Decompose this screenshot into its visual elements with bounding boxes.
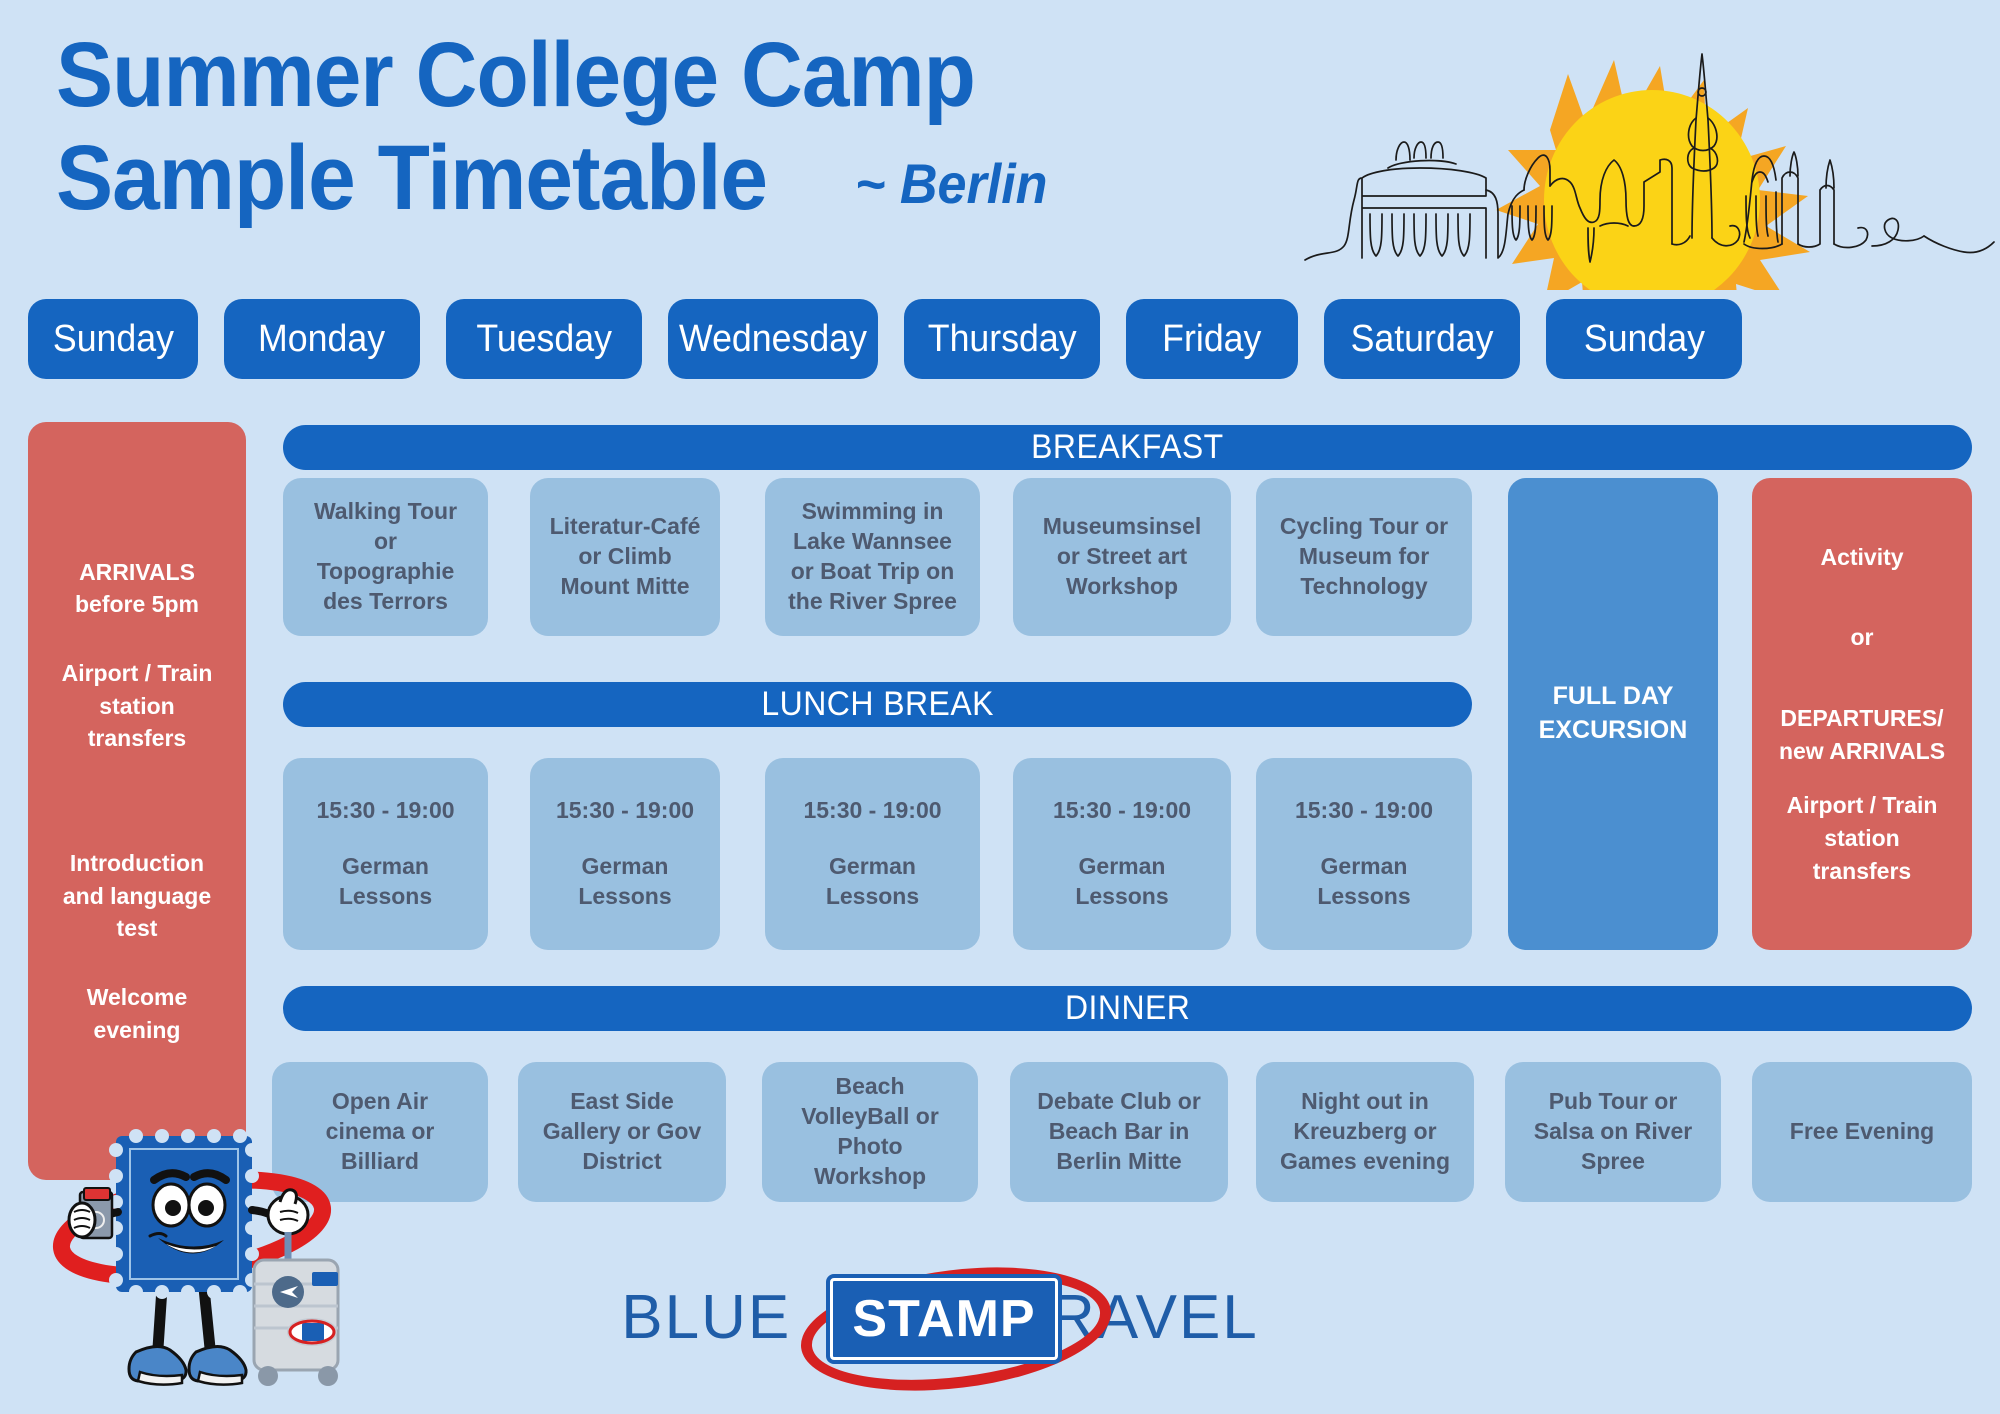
day-header-thursday[interactable]: Thursday	[904, 299, 1100, 379]
activity-label: Night out in Kreuzberg or Games evening	[1280, 1087, 1450, 1177]
breakfast-bar: BREAKFAST	[283, 425, 1972, 470]
activity-card-tuesday-afternoon[interactable]: 15:30 - 19:00 German Lessons	[530, 758, 720, 950]
day-header-saturday[interactable]: Saturday	[1324, 299, 1520, 379]
activity-card-friday-evening[interactable]: Night out in Kreuzberg or Games evening	[1256, 1062, 1474, 1202]
activity-card-wednesday-evening[interactable]: Beach VolleyBall or Photo Workshop	[762, 1062, 978, 1202]
day-label: Friday	[1162, 318, 1261, 361]
day-label: Tuesday	[476, 318, 612, 361]
lesson-time: 15:30 - 19:00	[1053, 796, 1191, 826]
activity-label: Debate Club or Beach Bar in Berlin Mitte	[1037, 1087, 1201, 1177]
departures-column: Activity or DEPARTURES/ new ARRIVALS Air…	[1752, 478, 1972, 950]
departures-block-4: Airport / Train station transfers	[1787, 789, 1938, 887]
activity-label: East Side Gallery or Gov District	[543, 1087, 702, 1177]
timetable-poster: Summer College Camp Sample Timetable ~ B…	[0, 0, 2000, 1414]
activity-label: Literatur-Café or Climb Mount Mitte	[550, 512, 701, 602]
dinner-label: DINNER	[1065, 989, 1190, 1028]
stamp-mascot-icon	[40, 1120, 340, 1410]
page-title: Summer College Camp Sample Timetable ~ B…	[56, 24, 1356, 230]
day-label: Saturday	[1351, 318, 1494, 361]
activity-card-monday-morning[interactable]: Walking Tour or Topographie des Terrors	[283, 478, 488, 636]
activity-card-thursday-afternoon[interactable]: 15:30 - 19:00 German Lessons	[1013, 758, 1231, 950]
day-header-sunday-departure[interactable]: Sunday	[1546, 299, 1742, 379]
activity-label: Beach VolleyBall or Photo Workshop	[801, 1072, 939, 1192]
departures-block-1: Activity	[1820, 541, 1903, 574]
day-header-monday[interactable]: Monday	[224, 299, 420, 379]
activity-label: German Lessons	[578, 852, 671, 912]
activity-label: German Lessons	[339, 852, 432, 912]
lesson-time: 15:30 - 19:00	[803, 796, 941, 826]
logo-word-blue: BLUE	[621, 1282, 791, 1353]
lesson-time: 15:30 - 19:00	[316, 796, 454, 826]
activity-card-wednesday-afternoon[interactable]: 15:30 - 19:00 German Lessons	[765, 758, 980, 950]
activity-card-saturday-evening[interactable]: Pub Tour or Salsa on River Spree	[1505, 1062, 1721, 1202]
activity-label: Pub Tour or Salsa on River Spree	[1534, 1087, 1693, 1177]
activity-card-friday-morning[interactable]: Cycling Tour or Museum for Technology	[1256, 478, 1472, 636]
activity-card-tuesday-morning[interactable]: Literatur-Café or Climb Mount Mitte	[530, 478, 720, 636]
activity-card-thursday-evening[interactable]: Debate Club or Beach Bar in Berlin Mitte	[1010, 1062, 1228, 1202]
day-header-wednesday[interactable]: Wednesday	[668, 299, 878, 379]
title-subtitle-destination: ~ Berlin	[855, 151, 1047, 230]
activity-label: Swimming in Lake Wannsee or Boat Trip on…	[788, 497, 957, 617]
activity-card-friday-afternoon[interactable]: 15:30 - 19:00 German Lessons	[1256, 758, 1472, 950]
activity-label: Museumsinsel or Street art Workshop	[1043, 512, 1202, 602]
activity-card-thursday-morning[interactable]: Museumsinsel or Street art Workshop	[1013, 478, 1231, 636]
day-header-tuesday[interactable]: Tuesday	[446, 299, 642, 379]
activity-card-wednesday-morning[interactable]: Swimming in Lake Wannsee or Boat Trip on…	[765, 478, 980, 636]
day-label: Wednesday	[679, 318, 867, 361]
day-label: Thursday	[928, 318, 1077, 361]
logo-stamp-badge: STAMP	[830, 1278, 1058, 1360]
arrivals-block-3: Introduction and language test	[63, 847, 211, 945]
activity-label: German Lessons	[826, 852, 919, 912]
lesson-time: 15:30 - 19:00	[556, 796, 694, 826]
activity-label: German Lessons	[1075, 852, 1168, 912]
breakfast-label: BREAKFAST	[1031, 428, 1223, 467]
day-label: Sunday	[1583, 318, 1704, 361]
day-header-row: Sunday Monday Tuesday Wednesday Thursday…	[28, 299, 1972, 379]
activity-card-sunday-evening[interactable]: Free Evening	[1752, 1062, 1972, 1202]
activity-label: German Lessons	[1317, 852, 1410, 912]
arrivals-block-2: Airport / Train station transfers	[62, 657, 213, 755]
title-line-1: Summer College Camp	[56, 24, 1265, 127]
full-day-excursion-card[interactable]: FULL DAY EXCURSION	[1508, 478, 1718, 950]
activity-card-tuesday-evening[interactable]: East Side Gallery or Gov District	[518, 1062, 726, 1202]
lunch-break-bar: LUNCH BREAK	[283, 682, 1472, 727]
sun-icon	[1496, 60, 1810, 290]
title-line-2: Sample Timetable	[56, 127, 767, 230]
activity-label: Free Evening	[1790, 1117, 1934, 1147]
brand-logo: BLUE STAMP TRAVEL STAMP	[660, 1272, 1220, 1362]
lesson-time: 15:30 - 19:00	[1295, 796, 1433, 826]
arrivals-block-1: ARRIVALS before 5pm	[75, 556, 199, 621]
activity-card-monday-afternoon[interactable]: 15:30 - 19:00 German Lessons	[283, 758, 488, 950]
berlin-skyline-icon	[1300, 0, 2000, 290]
day-label: Sunday	[52, 318, 173, 361]
day-header-friday[interactable]: Friday	[1126, 299, 1298, 379]
arrivals-block-4: Welcome evening	[87, 981, 188, 1046]
activity-label: Walking Tour or Topographie des Terrors	[314, 497, 457, 617]
activity-label: Cycling Tour or Museum for Technology	[1280, 512, 1448, 602]
day-header-sunday-arrival[interactable]: Sunday	[28, 299, 198, 379]
departures-block-2: or	[1851, 621, 1874, 654]
lunch-break-label: LUNCH BREAK	[761, 685, 994, 724]
dinner-bar: DINNER	[283, 986, 1972, 1031]
day-label: Monday	[258, 318, 385, 361]
departures-block-3: DEPARTURES/ new ARRIVALS	[1779, 702, 1945, 767]
activity-label: Open Air cinema or Billiard	[326, 1087, 435, 1177]
arrivals-column: ARRIVALS before 5pm Airport / Train stat…	[28, 422, 246, 1180]
